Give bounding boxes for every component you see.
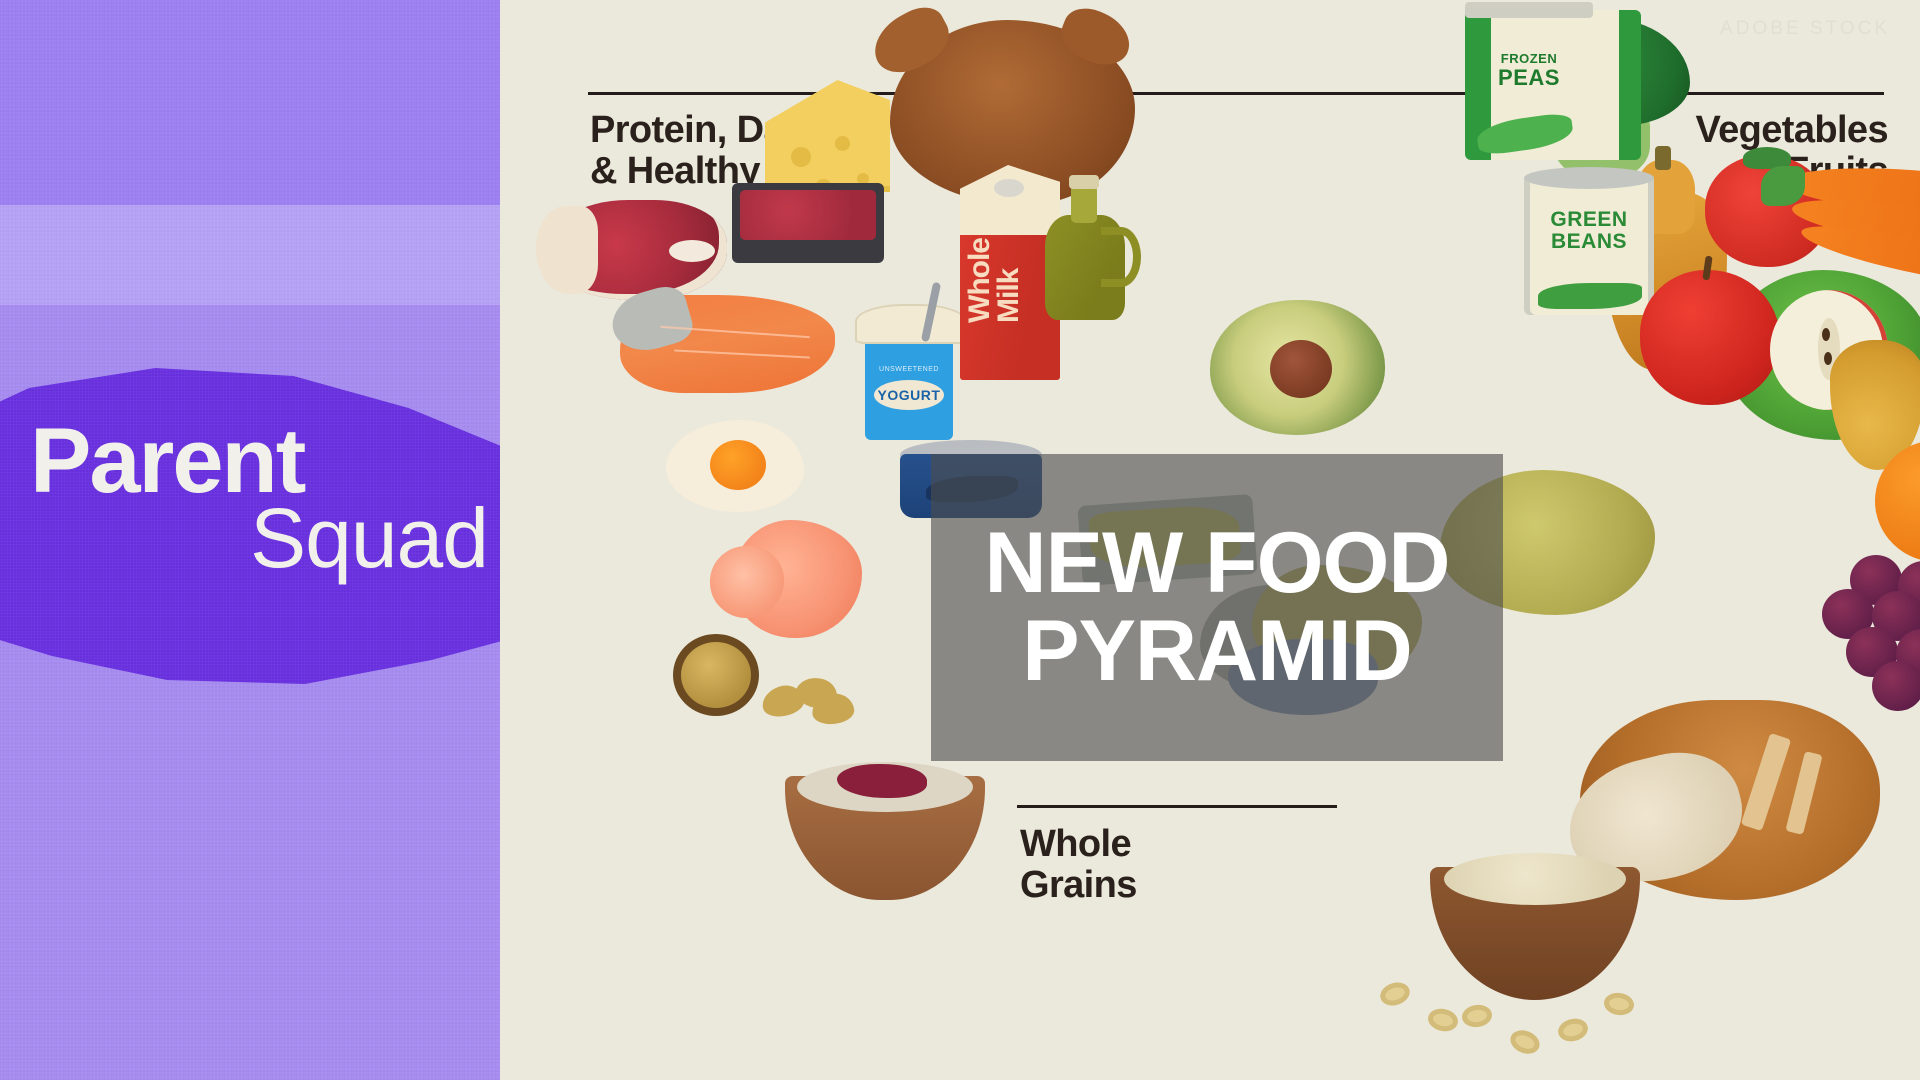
red-apple-illustration	[1640, 270, 1780, 405]
oat-bowl-oats	[1444, 853, 1626, 905]
avocado-half-illustration	[1210, 300, 1385, 435]
poster-content-area: ADOBE STOCK Protein, Dairy & Healthy Fat…	[500, 0, 1920, 1080]
shrimp-illustration	[732, 520, 862, 638]
oil-bottle-handle	[1101, 227, 1141, 287]
brand-band-middle	[0, 205, 500, 305]
peas-label-line2: PEAS	[1469, 66, 1589, 89]
apple-seed-2	[1824, 352, 1832, 365]
avocado-pit	[1270, 340, 1332, 398]
peas-bag-seal	[1465, 2, 1593, 18]
brand-band-top	[0, 0, 500, 205]
green-beans-label-line2: BEANS	[1524, 231, 1654, 253]
almonds-illustration	[762, 672, 854, 724]
overlay-title-text: NEW FOOD PYRAMID	[985, 520, 1450, 695]
title-overlay-banner: NEW FOOD PYRAMID	[931, 454, 1503, 761]
apple-seed-1	[1822, 328, 1830, 341]
oil-bottle-cork	[1069, 175, 1099, 189]
yogurt-label-oval: YOGURT	[874, 380, 944, 410]
oil-bottle-neck	[1071, 185, 1097, 223]
chicken-leg-left	[864, 0, 958, 83]
yogurt-cup-illustration: UNSWEETENED YOGURT	[865, 330, 953, 440]
egg-yolk	[710, 440, 766, 490]
walnut-kernel	[681, 642, 751, 708]
ground-beef-tray-illustration	[732, 183, 884, 263]
oat-flakes-illustration	[1380, 975, 1660, 1065]
peas-bag-label: FROZEN PEAS	[1469, 52, 1589, 89]
chicken-leg-right	[1054, 1, 1138, 74]
salmon-fillet-illustration	[620, 295, 835, 393]
salmon-line-2	[674, 349, 810, 358]
green-beans-can-label: GREEN BEANS	[1524, 209, 1654, 253]
poster-canvas: Parent Squad ADOBE STOCK Protein, Dairy …	[0, 0, 1920, 1080]
fried-egg-illustration	[666, 420, 804, 512]
green-beans-label-line1: GREEN	[1524, 209, 1654, 231]
squash-stem	[1655, 146, 1671, 170]
brand-wordmark: Parent Squad	[30, 418, 500, 579]
olive-oil-bottle-illustration	[1045, 185, 1125, 320]
carrot-greens	[1761, 166, 1805, 206]
green-beans-can-lid	[1524, 167, 1654, 189]
frozen-peas-bag-illustration: FROZEN PEAS	[1465, 10, 1641, 160]
yogurt-lid	[855, 304, 967, 344]
yogurt-sublabel: UNSWEETENED	[877, 366, 941, 373]
swiss-cheese-illustration	[765, 80, 890, 192]
shrimp-second	[710, 546, 784, 618]
green-beans-can-graphic	[1538, 283, 1642, 309]
steak-fat-edge	[536, 206, 598, 294]
milk-carton-cap	[994, 179, 1024, 197]
steak-bone	[669, 240, 715, 262]
steak-illustration	[542, 200, 727, 300]
canned-green-beans-illustration: GREEN BEANS	[1524, 175, 1654, 315]
rice-berry-bowl-illustration	[785, 750, 985, 900]
grapes-illustration	[1810, 555, 1920, 715]
ground-beef-meat	[740, 190, 876, 240]
peas-label-line1: FROZEN	[1469, 52, 1589, 66]
yogurt-label-text: YOGURT	[874, 380, 944, 410]
brand-panel: Parent Squad	[0, 0, 500, 1080]
peas-bag-pod-graphic	[1475, 111, 1575, 156]
walnut-illustration	[673, 634, 759, 716]
